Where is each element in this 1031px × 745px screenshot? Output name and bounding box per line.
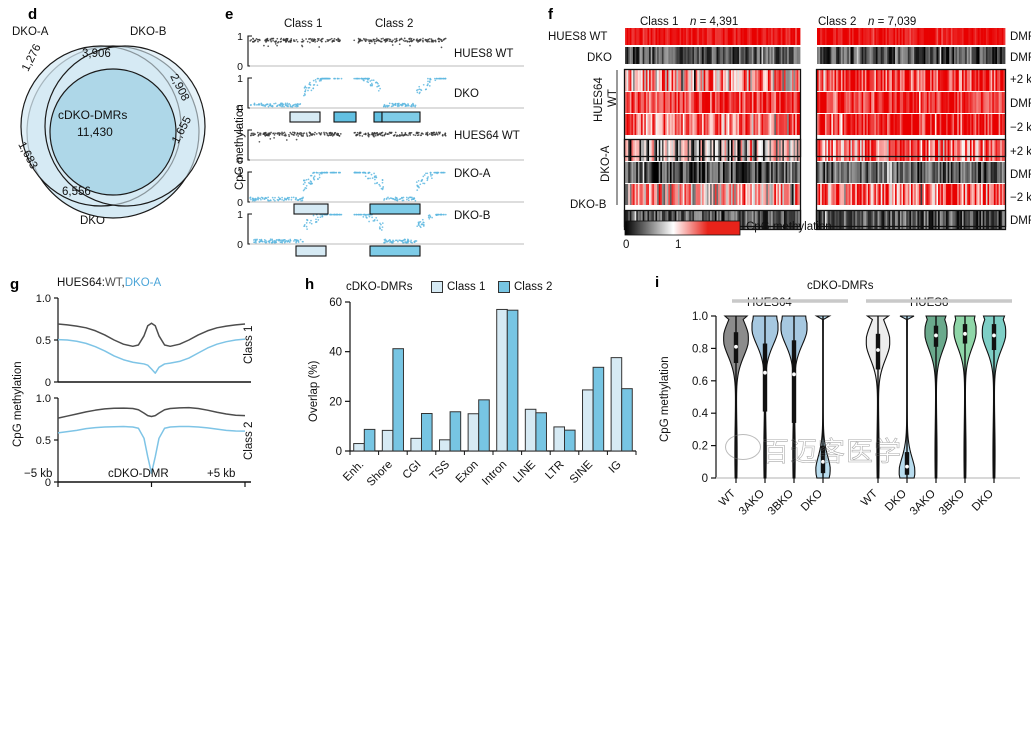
svg-text:DKO: DKO — [970, 488, 996, 514]
svg-text:1.0: 1.0 — [36, 393, 51, 405]
panel-f-colorbar-title: CpG methylation — [746, 221, 832, 233]
panel-i-letter: i — [655, 274, 659, 291]
panel-f-right-minus2kb-1: −2 kb — [1010, 122, 1031, 134]
panel-g-ylabel: CpG methylation — [12, 361, 24, 447]
svg-text:Exon: Exon — [454, 459, 481, 486]
venn-value-bottom: 6,556 — [62, 186, 91, 198]
panel-f-right-dmr-3: DMR — [1010, 98, 1031, 110]
svg-text:0: 0 — [237, 61, 243, 73]
svg-text:0: 0 — [237, 155, 243, 167]
svg-text:DKO: DKO — [799, 488, 825, 514]
panel-e-plot: 1010101010 — [242, 32, 532, 257]
panel-i-ylabel: CpG methylation — [659, 356, 671, 442]
panel-f-right-dmr-4: DMR — [1010, 169, 1031, 181]
panel-d-label-dkob: DKO-B — [130, 26, 166, 38]
n-italic-2: n — [868, 16, 874, 28]
panel-e-class2-header: Class 2 — [375, 18, 413, 30]
n-italic: n — [690, 16, 696, 28]
panel-i-plot: 1.00.80.60.40.20WT3AKO3BKODKOWTDKO3AKO3B… — [702, 310, 1022, 505]
panel-d: d DKO-A DKO-B DKO 3,906 6,556 1,276 2,90… — [0, 0, 225, 260]
panel-e-row-label-dko: DKO — [454, 88, 479, 100]
svg-text:Shore: Shore — [365, 459, 395, 489]
panel-g-plot: 1.00.501.00.50 — [30, 290, 275, 490]
svg-text:SINE: SINE — [568, 458, 596, 486]
panel-h-ylabel: Overlap (%) — [308, 361, 320, 422]
panel-f-colorbar-max: 1 — [675, 239, 681, 251]
panel-f-right-minus2kb-2: −2 kb — [1010, 192, 1031, 204]
svg-text:0: 0 — [336, 446, 342, 458]
svg-text:3AKO: 3AKO — [737, 488, 767, 518]
panel-g-header-prefix: HUES64: — [57, 277, 105, 289]
panel-h-legend-swatch-class1 — [431, 281, 443, 293]
n-value: = 4,391 — [700, 16, 739, 28]
panel-f-colorbar — [625, 221, 740, 235]
svg-text:0.6: 0.6 — [692, 376, 708, 388]
panel-h-legend-swatch-class2 — [498, 281, 510, 293]
svg-text:0.5: 0.5 — [36, 435, 51, 447]
svg-text:LINE: LINE — [511, 458, 538, 485]
panel-f: f Class 1 n = 4,391 Class 2 n = 7,039 HU… — [530, 0, 1031, 260]
venn-center-label: cDKO-DMRs — [58, 108, 127, 122]
panel-i-title: cDKO-DMRs — [807, 280, 873, 292]
panel-g-header: HUES64:WT,DKO-A — [57, 277, 161, 289]
panel-f-class2-n: n = 7,039 — [868, 16, 916, 28]
panel-h: h cDKO-DMRs Class 1 Class 2 Overlap (%) … — [298, 262, 658, 500]
venn-center-value: 11,430 — [77, 125, 113, 139]
panel-f-right-dmr-1: DMR — [1010, 31, 1031, 43]
panel-d-venn — [8, 42, 223, 222]
panel-g-xtick-right: +5 kb — [207, 468, 235, 480]
svg-text:1: 1 — [237, 125, 243, 137]
n-value-2: = 7,039 — [878, 16, 917, 28]
panel-f-right-plus2kb-1: +2 kb — [1010, 74, 1031, 86]
svg-text:20: 20 — [329, 396, 342, 408]
panel-e-row-label-dkoa: DKO-A — [454, 168, 490, 180]
panel-e-row-label-dkob: DKO-B — [454, 210, 490, 222]
svg-text:0.8: 0.8 — [692, 343, 708, 355]
panel-e-row-label-hues64wt: HUES64 WT — [454, 130, 520, 142]
svg-text:1: 1 — [237, 31, 243, 43]
svg-text:DKO: DKO — [883, 488, 909, 514]
panel-h-plot: 6040200Enh.ShoreCGITSSExonIntronLINELTRS… — [336, 296, 641, 486]
panel-f-class2-header: Class 2 — [818, 16, 856, 28]
svg-text:WT: WT — [859, 488, 880, 509]
svg-text:1.0: 1.0 — [36, 293, 51, 305]
panel-f-left-dkob: DKO-B — [570, 199, 606, 211]
panel-f-class1-header: Class 1 — [640, 16, 678, 28]
svg-text:CGI: CGI — [401, 459, 424, 482]
svg-text:3BKO: 3BKO — [937, 488, 967, 518]
panel-f-left-dkoa: DKO-A — [600, 146, 612, 182]
panel-e-letter: e — [225, 6, 233, 23]
svg-text:TSS: TSS — [428, 458, 453, 483]
panel-f-left-dko: DKO — [587, 52, 612, 64]
svg-text:3AKO: 3AKO — [908, 488, 938, 518]
panel-h-letter: h — [305, 276, 314, 293]
svg-text:0: 0 — [237, 197, 243, 209]
panel-h-legend-label-class1: Class 1 — [447, 281, 485, 293]
panel-f-left-hues64: HUES64 — [593, 77, 605, 122]
panel-e: e Class 1 Class 2 CpG methylation 101010… — [222, 0, 532, 260]
panel-f-right-plus2kb-2: +2 kb — [1010, 146, 1031, 158]
svg-text:1.0: 1.0 — [692, 311, 708, 323]
svg-text:1: 1 — [237, 167, 243, 179]
panel-f-colorbar-min: 0 — [623, 239, 629, 251]
svg-text:0.5: 0.5 — [36, 335, 51, 347]
panel-d-letter: d — [28, 6, 37, 23]
panel-f-left-hues8wt: HUES8 WT — [548, 31, 607, 43]
svg-text:IG: IG — [607, 459, 624, 476]
panel-f-class1-n: n = 4,391 — [690, 16, 738, 28]
venn-value-top: 3,906 — [82, 48, 111, 60]
panel-g-xtick-center: cDKO-DMR — [108, 468, 169, 480]
panel-f-letter: f — [548, 6, 553, 23]
panel-i: i cDKO-DMRs HUES64 HUES8 CpG methylation… — [652, 262, 1031, 500]
svg-text:LTR: LTR — [543, 459, 566, 482]
panel-f-right-dmr-5: DMR — [1010, 215, 1031, 227]
panel-e-class1-header: Class 1 — [284, 18, 322, 30]
svg-text:Enh.: Enh. — [341, 459, 366, 484]
panel-g-header-wt: WT — [105, 277, 122, 289]
panel-e-row-label-hues8wt: HUES8 WT — [454, 48, 513, 60]
svg-text:0.2: 0.2 — [692, 441, 708, 453]
svg-text:0.4: 0.4 — [692, 408, 709, 420]
svg-text:0: 0 — [237, 103, 243, 115]
svg-text:60: 60 — [329, 297, 342, 309]
panel-h-legend-label-class2: Class 2 — [514, 281, 552, 293]
panel-g-header-dkoa: DKO-A — [125, 277, 161, 289]
panel-g-row-label-class2: Class 2 — [243, 422, 255, 460]
svg-text:Intron: Intron — [480, 459, 509, 488]
panel-i-group-label-hues64: HUES64 — [747, 297, 792, 309]
venn-core-cdko — [50, 69, 176, 195]
panel-h-legend-title: cDKO-DMRs — [346, 281, 412, 293]
panel-g-letter: g — [10, 276, 19, 293]
svg-text:40: 40 — [329, 347, 342, 359]
panel-g-xtick-left: −5 kb — [24, 468, 52, 480]
panel-g: g HUES64:WT,DKO-A CpG methylation 1.00.5… — [0, 262, 300, 500]
panel-i-group-label-hues8: HUES8 — [910, 297, 948, 309]
panel-f-left-hues64-wt: WT — [607, 89, 619, 107]
panel-f-right-dmr-2: DMR — [1010, 52, 1031, 64]
svg-text:0: 0 — [702, 473, 708, 485]
svg-text:0: 0 — [45, 377, 51, 389]
svg-text:WT: WT — [717, 488, 738, 509]
panel-g-row-label-class1: Class 1 — [243, 326, 255, 364]
panel-f-heatmap — [625, 28, 1005, 243]
svg-text:3BKO: 3BKO — [766, 488, 796, 518]
panel-d-label-dkoa: DKO-A — [12, 26, 48, 38]
svg-text:0: 0 — [237, 239, 243, 251]
svg-text:1: 1 — [237, 73, 243, 85]
svg-text:1: 1 — [237, 209, 243, 221]
